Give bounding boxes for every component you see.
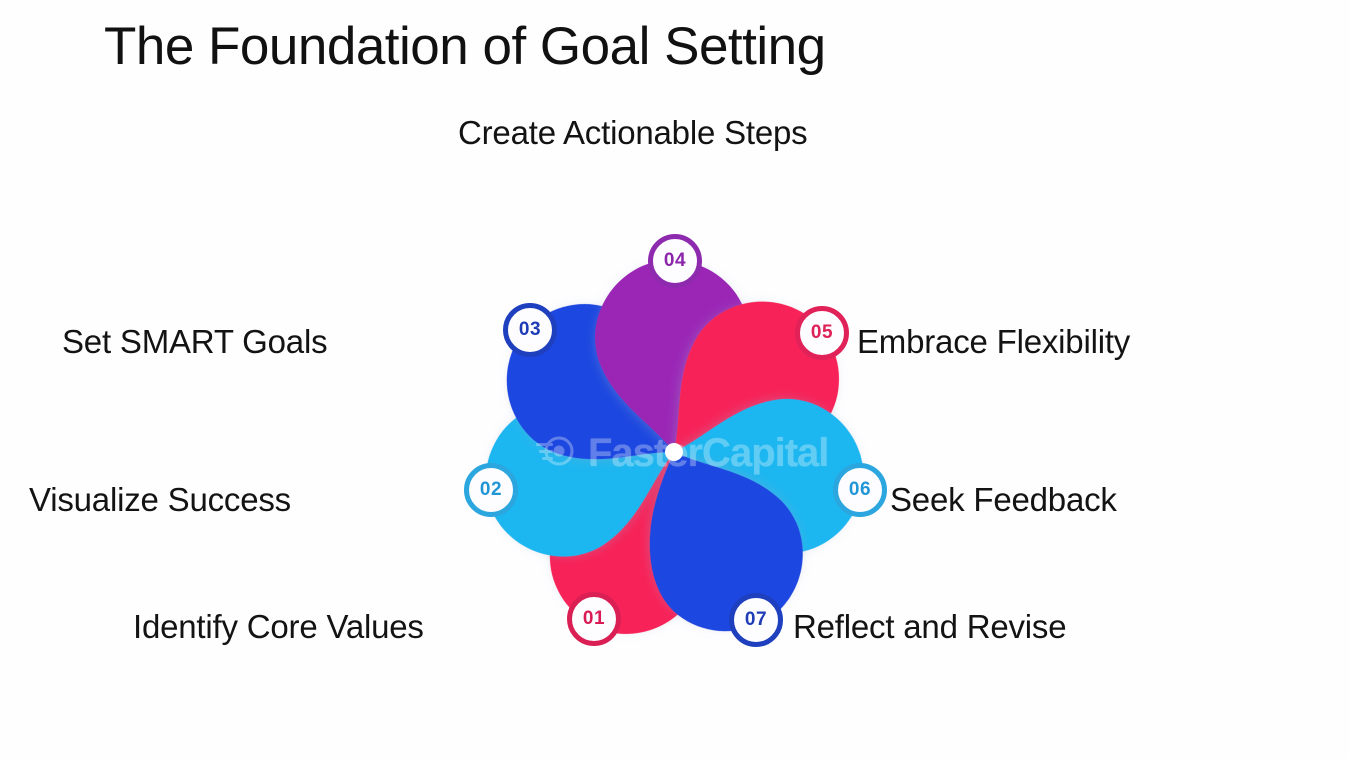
badge-02[interactable]: 02 — [464, 463, 518, 517]
label-identify-core-values: Identify Core Values — [133, 608, 424, 646]
label-visualize-success: Visualize Success — [29, 481, 291, 519]
badge-06[interactable]: 06 — [833, 463, 887, 517]
label-set-smart-goals: Set SMART Goals — [62, 323, 327, 361]
badge-number: 06 — [849, 479, 871, 501]
badge-01[interactable]: 01 — [567, 592, 621, 646]
label-reflect-and-revise: Reflect and Revise — [793, 608, 1066, 646]
badge-number: 04 — [664, 250, 686, 272]
badge-number: 05 — [811, 322, 833, 344]
badge-04[interactable]: 04 — [648, 234, 702, 288]
badge-number: 03 — [519, 319, 541, 341]
badge-number: 07 — [745, 609, 767, 631]
label-embrace-flexibility: Embrace Flexibility — [857, 323, 1130, 361]
badge-03[interactable]: 03 — [503, 303, 557, 357]
flower-center — [665, 443, 683, 461]
badge-05[interactable]: 05 — [795, 306, 849, 360]
badge-07[interactable]: 07 — [729, 593, 783, 647]
badge-number: 01 — [583, 608, 605, 630]
badge-number: 02 — [480, 479, 502, 501]
label-seek-feedback: Seek Feedback — [890, 481, 1117, 519]
label-create-actionable-steps: Create Actionable Steps — [458, 114, 807, 152]
